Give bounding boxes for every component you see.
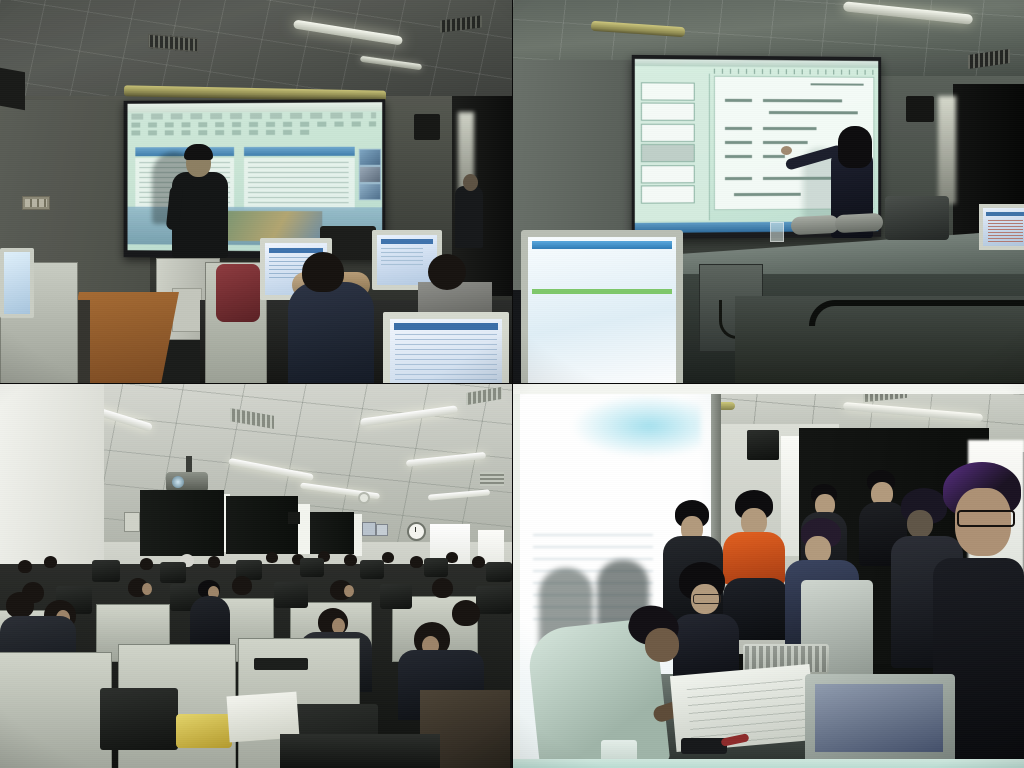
desk-partition-near	[0, 652, 112, 768]
powerpoint-ruler	[714, 69, 874, 75]
wall-speaker-right	[414, 114, 440, 140]
printer	[885, 196, 949, 240]
student-foreground-head	[302, 252, 344, 292]
collage-panel-top-right	[513, 0, 1024, 383]
portal-thumbnail-1	[359, 149, 381, 166]
slide-thumbnail-2	[641, 103, 695, 121]
framed-picture-2	[362, 522, 376, 536]
dome-camera-2	[360, 494, 368, 502]
browser-toolbar	[128, 102, 383, 112]
wall-speaker	[288, 512, 300, 524]
collage-panel-bottom-left	[0, 384, 512, 768]
portal-nav-row-2	[131, 130, 308, 136]
slide-label-5	[725, 177, 752, 180]
slide-footer-text	[734, 193, 801, 196]
keyboard	[254, 658, 308, 670]
portal-nav-row-1	[131, 121, 375, 127]
portal-thumbnail-3	[359, 183, 381, 200]
presenter-hand	[781, 146, 792, 155]
student-foreground-body	[288, 282, 374, 383]
slide-thumbnail-6	[641, 185, 695, 203]
student-head	[44, 556, 57, 568]
slide-body-4	[763, 141, 807, 144]
eyeglasses-icon	[693, 594, 721, 604]
slide-title-text	[811, 83, 864, 85]
slide-label-2	[725, 127, 752, 130]
slide-label-3	[725, 141, 752, 144]
wall-speaker	[747, 430, 779, 460]
rolled-mat-2	[835, 213, 884, 233]
student-head	[410, 556, 423, 568]
slide-thumbnail-4-selected	[641, 144, 695, 162]
standing-person-right-head	[463, 174, 478, 191]
student-head	[6, 592, 34, 618]
photo-bottom-tint-strip	[513, 759, 1024, 768]
side-monitor	[979, 204, 1024, 250]
student-head	[472, 556, 485, 568]
crt-monitor-near	[100, 688, 178, 750]
ceiling-air-vent-4	[480, 472, 504, 486]
photo-left-white-border	[513, 394, 520, 759]
presenter-hair	[184, 144, 213, 160]
group-at-workstation-scene	[513, 384, 1024, 768]
slide-body-2	[769, 111, 857, 114]
yellow-bag	[176, 714, 232, 748]
slide-label-4	[725, 155, 752, 158]
red-backpack	[216, 264, 260, 322]
person-face	[645, 628, 679, 662]
classroom-scene-instructor-female	[513, 0, 1024, 383]
window-light-glow	[938, 96, 956, 204]
powerpoint-slide-thumbnail-pane	[635, 73, 710, 221]
slide-thumbnail-3	[641, 123, 695, 141]
railing-curved-rail	[809, 300, 1024, 326]
slide-body-5	[763, 155, 785, 158]
projection-screen-blue-tint	[571, 394, 701, 458]
student-right-head	[428, 254, 466, 290]
portal-text-lines-right	[248, 162, 349, 206]
rolled-mat-1	[791, 215, 840, 235]
photo-top-white-border	[513, 384, 1024, 394]
lcd-monitor-far-left	[0, 248, 34, 318]
portal-footer-map-image	[212, 211, 322, 241]
projector-lens	[172, 476, 184, 488]
foreground-monitor	[521, 230, 683, 383]
slide-label-1	[725, 99, 752, 102]
student-head	[344, 554, 357, 566]
framed-picture-1	[124, 512, 140, 532]
student-head	[266, 552, 278, 563]
slide-thumbnail-1	[641, 82, 695, 101]
slide-body-1	[763, 99, 842, 102]
presenter-hair	[838, 126, 872, 168]
wall-speaker	[906, 96, 934, 122]
collage-panel-bottom-right	[513, 384, 1024, 768]
slide-thumbnail-5	[641, 165, 695, 183]
mouse	[306, 658, 330, 668]
student-head	[140, 558, 153, 570]
portal-thumbnail-2	[359, 166, 381, 183]
classroom-scene-instructor-male	[0, 0, 512, 383]
wall-speaker-left	[0, 68, 25, 110]
foreground-desk-edge	[280, 734, 440, 768]
standing-person-right-body	[455, 186, 483, 248]
wall-power-socket	[22, 196, 50, 210]
wall-clock	[407, 522, 426, 541]
drinking-glass	[770, 222, 784, 242]
browser-menu-row	[131, 112, 375, 119]
student-head	[452, 600, 480, 626]
person-face	[907, 510, 933, 538]
crt-monitor-screen	[815, 684, 943, 752]
collage-panel-top-left	[0, 0, 512, 383]
slide-body-3	[763, 127, 817, 130]
eyeglasses-icon	[957, 510, 1015, 527]
powerpoint-toolbar	[635, 59, 878, 68]
computer-lab-overview-scene	[0, 384, 512, 768]
lcd-monitor-foreground	[383, 312, 509, 383]
student-head	[208, 556, 220, 568]
photo-collage	[0, 0, 1024, 768]
framed-picture-3	[376, 524, 388, 536]
portal-section-header-right	[244, 147, 355, 156]
